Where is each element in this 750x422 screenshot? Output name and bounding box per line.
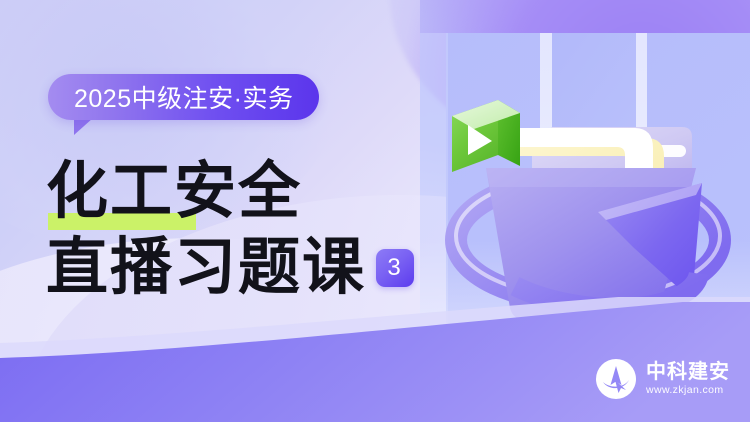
brand-logo-text-group: 中科建安 www.zkjan.com <box>646 362 730 396</box>
episode-number-label: 3 <box>387 256 402 280</box>
course-title-line-2-text: 直播习题课 <box>46 231 366 305</box>
course-title-block: 化工安全 直播习题课 3 <box>46 155 414 305</box>
brand-name: 中科建安 <box>646 362 730 382</box>
course-category-badge: 2025中级注安·实务 <box>48 74 319 120</box>
course-category-badge-label: 2025中级注安·实务 <box>74 79 293 115</box>
brand-url: www.zkjan.com <box>646 385 730 396</box>
zhongke-jianan-mark-icon <box>595 358 637 400</box>
brand-logo: 中科建安 www.zkjan.com <box>595 358 730 400</box>
folder-with-documents-and-refresh-arrow-illustration <box>420 0 750 350</box>
badge-tail <box>74 118 93 135</box>
episode-number-badge: 3 <box>376 249 414 287</box>
course-title-line-1: 化工安全 <box>46 155 414 229</box>
course-title-line-1-text: 化工安全 <box>46 158 302 226</box>
course-cover-banner: 2025中级注安·实务 化工安全 直播习题课 3 中科建安 www.zkjan.… <box>0 0 750 422</box>
course-title-line-2: 直播习题课 3 <box>46 231 414 305</box>
